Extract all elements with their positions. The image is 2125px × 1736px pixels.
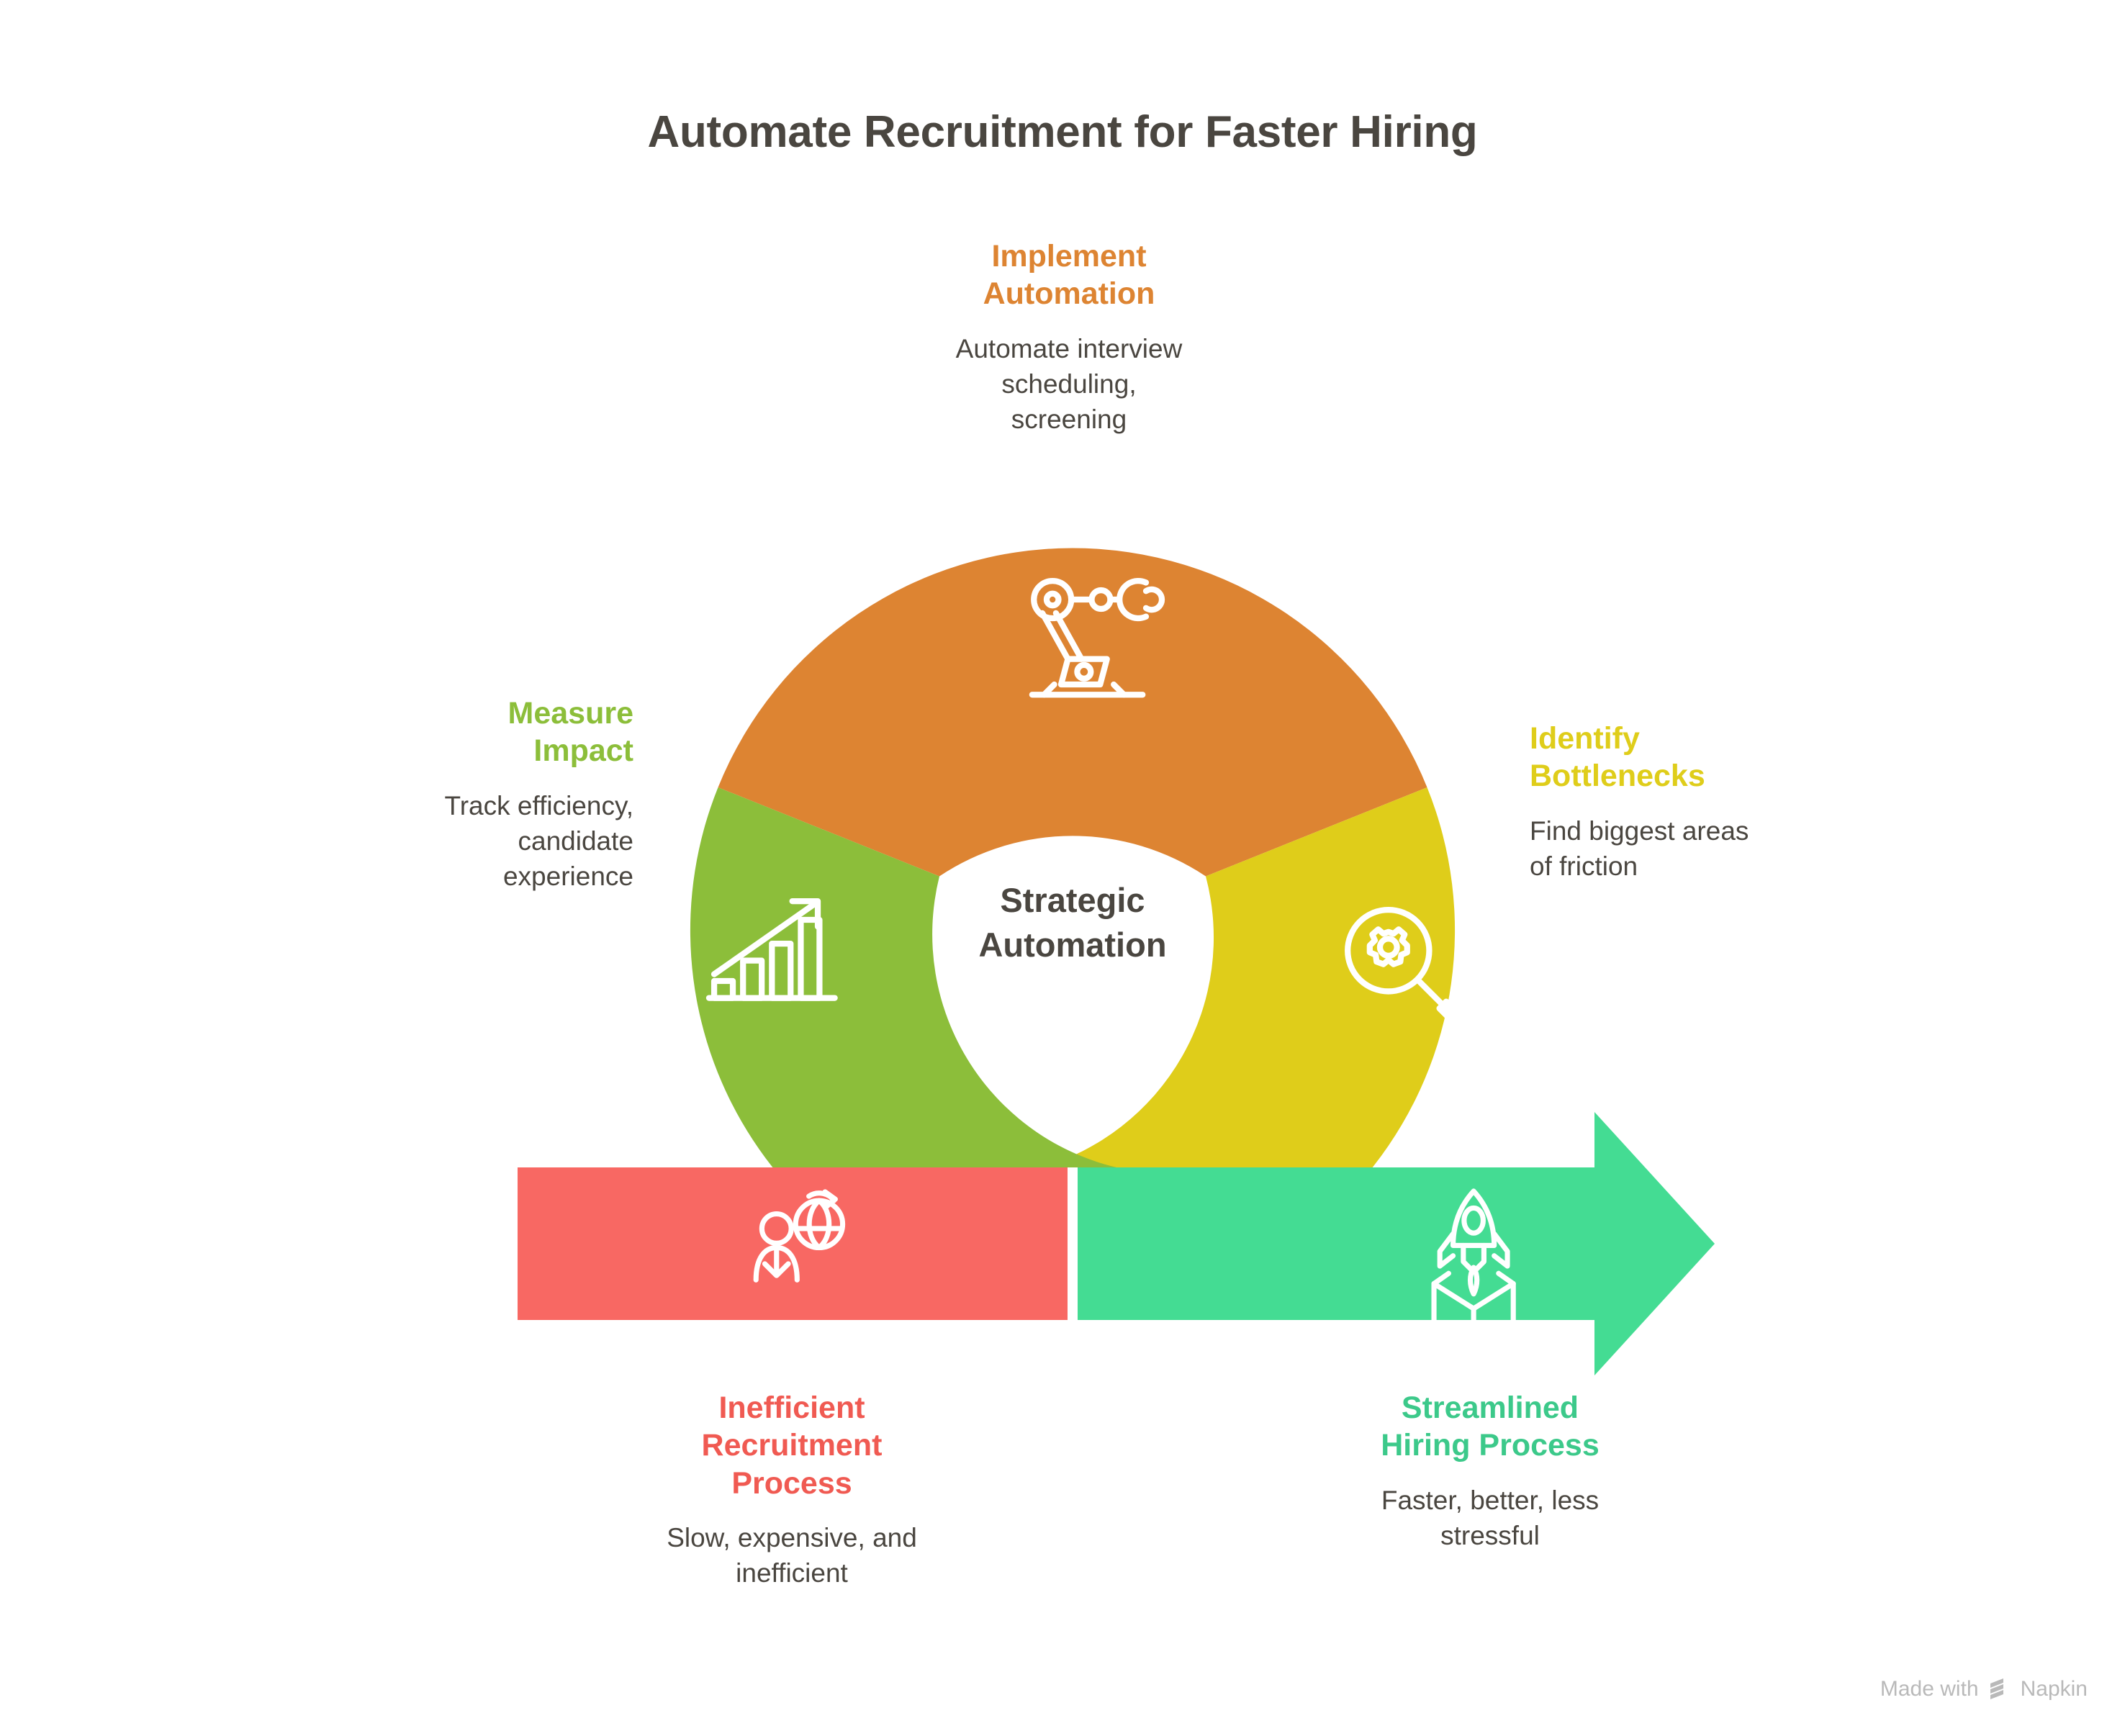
center-label: Strategic Automation [857, 878, 1289, 967]
watermark-text: Made with [1880, 1677, 1979, 1701]
callout-description-measure-impact: Track efficiency, candidate experience [324, 789, 633, 894]
callout-title-streamlined-hiring-process: Streamlined Hiring Process [1289, 1389, 1692, 1465]
callout-streamlined-hiring-process: Streamlined Hiring Process Faster, bette… [1289, 1389, 1692, 1554]
callout-title-implement-automation: Implement Automation [831, 238, 1307, 313]
callout-title-identify-bottlenecks: Identify Bottlenecks [1530, 720, 1904, 795]
callout-implement-automation: Implement Automation Automate interview … [831, 238, 1307, 437]
callout-description-identify-bottlenecks: Find biggest areas of friction [1530, 814, 1904, 885]
diagram-canvas: Automate Recruitment for Faster Hiring [0, 0, 2125, 1736]
callout-description-inefficient-recruitment-process: Slow, expensive, and inefficient [597, 1521, 986, 1591]
callout-inefficient-recruitment-process: Inefficient Recruitment Process Slow, ex… [597, 1389, 986, 1591]
callout-identify-bottlenecks: Identify Bottlenecks Find biggest areas … [1530, 720, 1904, 885]
bar-gap-divider [1068, 1167, 1078, 1320]
callout-measure-impact: Measure Impact Track efficiency, candida… [324, 695, 633, 894]
napkin-watermark: Made with Napkin [1880, 1677, 2088, 1701]
callout-title-measure-impact: Measure Impact [324, 695, 633, 770]
napkin-logo-icon [1988, 1677, 2012, 1701]
callout-description-implement-automation: Automate interview scheduling, screening [831, 332, 1307, 437]
watermark-brand: Napkin [2021, 1677, 2088, 1701]
callout-title-inefficient-recruitment-process: Inefficient Recruitment Process [597, 1389, 986, 1502]
bar-segment-inefficient-recruitment-process[interactable] [518, 1167, 1068, 1320]
callout-description-streamlined-hiring-process: Faster, better, less stressful [1289, 1483, 1692, 1554]
